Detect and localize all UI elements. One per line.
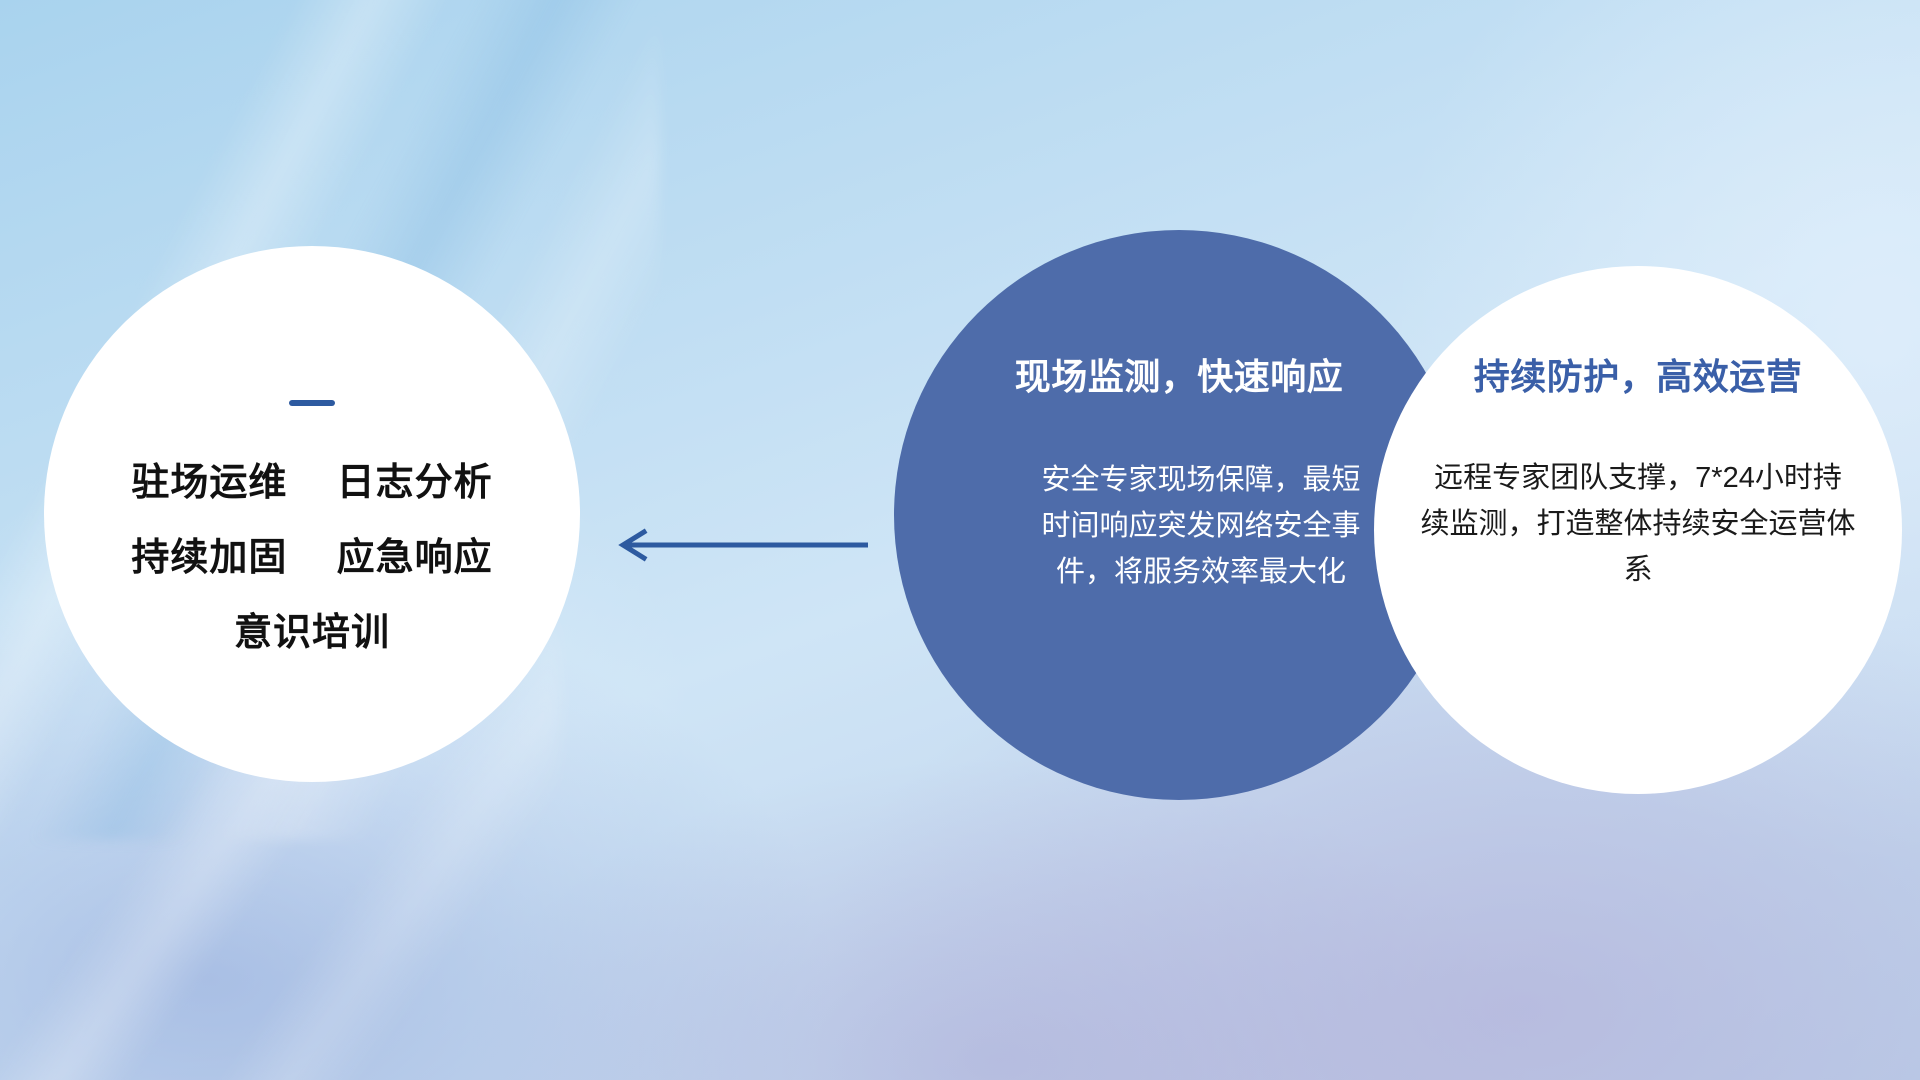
- flow-arrow-left: [610, 528, 872, 562]
- left-tag-1a: 驻场运维: [131, 462, 287, 504]
- right-circle-title: 持续防护，高效运营: [1474, 348, 1803, 400]
- left-tag-2a: 持续加固: [131, 537, 287, 579]
- right-circle-content: 持续防护，高效运营 远程专家团队支撑，7*24小时持续监测，打造整体持续安全运营…: [1374, 266, 1902, 794]
- left-tag-1b: 日志分析: [337, 462, 493, 504]
- left-circle-content: 驻场运维 日志分析 持续加固 应急响应 意识培训: [44, 246, 580, 782]
- left-tag-3a: 意识培训: [234, 612, 390, 654]
- dash-decoration-icon: [289, 400, 335, 406]
- left-circle-row-2: 持续加固 应急响应: [131, 539, 492, 577]
- left-circle-row-3: 意识培训: [234, 614, 390, 652]
- left-circle-row-1: 驻场运维 日志分析: [131, 464, 492, 502]
- right-circle-body: 远程专家团队支撑，7*24小时持续监测，打造整体持续安全运营体系: [1420, 456, 1856, 593]
- left-tag-2b: 应急响应: [337, 537, 493, 579]
- arrow-icon: [610, 528, 872, 562]
